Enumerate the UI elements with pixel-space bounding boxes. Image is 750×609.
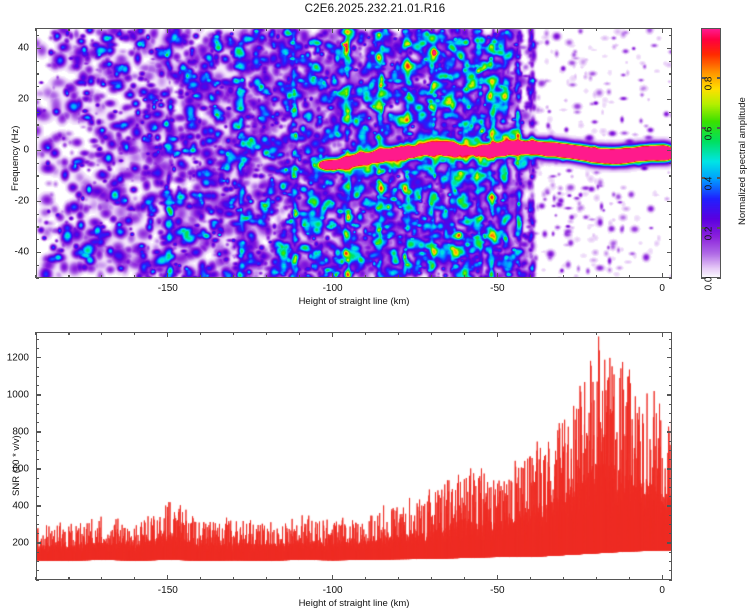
snr-x-minor-tick-top — [365, 332, 366, 335]
spectrogram-y-minor-tick — [36, 214, 39, 215]
snr-x-minor-tick-top — [233, 332, 234, 335]
snr-y-tick-right — [667, 468, 672, 469]
spectrogram-y-minor-tick — [36, 35, 39, 36]
spectrogram-x-tick-label: -150 — [158, 283, 178, 294]
spectrogram-x-minor-tick — [200, 275, 201, 278]
spectrogram-y-minor-tick — [36, 112, 39, 113]
spectrogram-y-minor-tick — [36, 137, 39, 138]
spectrogram-x-minor-tick-top — [134, 28, 135, 31]
snr-y-minor-tick — [36, 515, 39, 516]
snr-y-minor-tick — [36, 533, 39, 534]
snr-y-minor-tick-right — [669, 579, 672, 580]
snr-x-tick — [497, 575, 498, 580]
snr-x-minor-tick — [464, 577, 465, 580]
snr-x-tick-label: -50 — [490, 585, 504, 596]
spectrogram-x-minor-tick-top — [530, 28, 531, 31]
spectrogram-y-tick-right — [667, 48, 672, 49]
snr-x-tick-top — [662, 332, 663, 337]
snr-y-tick-right — [667, 505, 672, 506]
spectrogram-x-tick-top — [662, 28, 663, 33]
snr-plot-area — [37, 333, 671, 579]
snr-x-minor-tick-top — [596, 332, 597, 335]
spectrogram-y-tick-label: 20 — [0, 94, 29, 105]
spectrogram-x-tick-top — [167, 28, 168, 33]
spectrogram-x-tick-top — [332, 28, 333, 33]
snr-y-minor-tick-right — [669, 376, 672, 377]
spectrogram-x-minor-tick — [629, 275, 630, 278]
spectrogram-x-minor-tick — [398, 275, 399, 278]
spectrogram-x-tick-top — [497, 28, 498, 33]
snr-y-minor-tick — [36, 376, 39, 377]
spectrogram-y-minor-tick — [36, 277, 39, 278]
spectrogram-y-minor-tick-right — [669, 73, 672, 74]
colorbar-tick-label: 0.0 — [703, 277, 714, 291]
spectrogram-x-minor-tick — [101, 275, 102, 278]
snr-x-minor-tick — [68, 577, 69, 580]
spectrogram-y-tick-right — [667, 99, 672, 100]
snr-y-minor-tick — [36, 478, 39, 479]
snr-y-tick — [36, 357, 41, 358]
figure-title: C2E6.2025.232.21.01.R16 — [0, 3, 750, 15]
snr-y-minor-tick-right — [669, 441, 672, 442]
snr-x-tick — [332, 575, 333, 580]
colorbar — [701, 28, 721, 278]
snr-y-minor-tick-right — [669, 339, 672, 340]
spectrogram-x-minor-tick-top — [101, 28, 102, 31]
snr-x-minor-tick-top — [134, 332, 135, 335]
spectrogram-y-tick-label: -20 — [0, 196, 29, 207]
spectrogram-x-minor-tick — [464, 275, 465, 278]
snr-x-minor-tick — [563, 577, 564, 580]
spectrogram-x-minor-tick — [299, 275, 300, 278]
spectrogram-y-tick — [36, 201, 41, 202]
snr-y-minor-tick-right — [669, 422, 672, 423]
spectrogram-y-minor-tick — [36, 124, 39, 125]
spectrogram-x-minor-tick-top — [365, 28, 366, 31]
snr-y-minor-tick — [36, 579, 39, 580]
snr-x-tick — [662, 575, 663, 580]
spectrogram-x-minor-tick — [68, 275, 69, 278]
spectrogram-x-minor-tick-top — [596, 28, 597, 31]
figure-root: C2E6.2025.232.21.01.R16 -150-100-500-40-… — [0, 0, 750, 600]
snr-y-minor-tick-right — [669, 487, 672, 488]
snr-x-minor-tick-top — [629, 332, 630, 335]
spectrogram-x-tick-label: -100 — [323, 283, 343, 294]
spectrogram-y-minor-tick-right — [669, 124, 672, 125]
spectrogram-y-minor-tick-right — [669, 214, 672, 215]
spectrogram-y-minor-tick — [36, 86, 39, 87]
snr-y-minor-tick-right — [669, 524, 672, 525]
snr-panel — [36, 332, 672, 580]
snr-y-minor-tick-right — [669, 385, 672, 386]
spectrogram-x-minor-tick-top — [68, 28, 69, 31]
spectrogram-y-tick — [36, 48, 41, 49]
colorbar-tick-right — [717, 177, 721, 178]
spectrogram-y-tick-right — [667, 252, 672, 253]
spectrogram-x-tick-label: -50 — [490, 283, 504, 294]
spectrogram-x-minor-tick-top — [299, 28, 300, 31]
spectrogram-x-minor-tick — [233, 275, 234, 278]
snr-y-minor-tick-right — [669, 570, 672, 571]
snr-x-minor-tick — [530, 577, 531, 580]
colorbar-tick-label: 0.6 — [703, 127, 714, 141]
snr-trace — [37, 333, 671, 579]
spectrogram-x-minor-tick-top — [629, 28, 630, 31]
spectrogram-x-tick — [662, 273, 663, 278]
spectrogram-x-minor-tick-top — [563, 28, 564, 31]
colorbar-tick-label: 0.4 — [703, 177, 714, 191]
snr-x-minor-tick-top — [530, 332, 531, 335]
spectrogram-y-minor-tick — [36, 239, 39, 240]
snr-y-tick-label: 400 — [0, 500, 29, 511]
spectrogram-y-axis-title: Frequency (Hz) — [10, 126, 21, 191]
snr-x-tick-label: 0 — [659, 585, 665, 596]
colorbar-tick-label: 0.8 — [703, 77, 714, 91]
snr-y-tick-label: 200 — [0, 537, 29, 548]
spectrogram-y-minor-tick — [36, 61, 39, 62]
snr-x-minor-tick — [365, 577, 366, 580]
snr-x-minor-tick — [200, 577, 201, 580]
spectrogram-y-minor-tick-right — [669, 35, 672, 36]
snr-x-tick-top — [167, 332, 168, 337]
snr-x-minor-tick — [134, 577, 135, 580]
snr-y-tick-right — [667, 542, 672, 543]
spectrogram-panel — [36, 28, 672, 278]
spectrogram-y-tick — [36, 99, 41, 100]
snr-y-axis-title: SNR (10 * v/v) — [11, 435, 22, 496]
spectrogram-x-minor-tick-top — [266, 28, 267, 31]
snr-y-minor-tick — [36, 339, 39, 340]
spectrogram-y-minor-tick — [36, 265, 39, 266]
colorbar-tick-right — [717, 77, 721, 78]
snr-y-tick-right — [667, 394, 672, 395]
snr-y-minor-tick — [36, 385, 39, 386]
spectrogram-y-minor-tick — [36, 163, 39, 164]
colorbar-title: Normalized spectral amplitude — [737, 97, 748, 225]
spectrogram-x-minor-tick-top — [200, 28, 201, 31]
snr-y-tick-label: 1200 — [0, 352, 29, 363]
spectrogram-x-minor-tick — [431, 275, 432, 278]
spectrogram-x-tick-label: 0 — [659, 283, 665, 294]
spectrogram-x-minor-tick — [266, 275, 267, 278]
spectrogram-y-minor-tick — [36, 188, 39, 189]
spectrogram-y-minor-tick-right — [669, 277, 672, 278]
snr-y-minor-tick — [36, 552, 39, 553]
spectrogram-y-minor-tick-right — [669, 226, 672, 227]
spectrogram-x-minor-tick — [563, 275, 564, 278]
snr-y-minor-tick — [36, 422, 39, 423]
snr-x-minor-tick-top — [398, 332, 399, 335]
snr-x-minor-tick — [299, 577, 300, 580]
snr-y-tick — [36, 505, 41, 506]
snr-y-minor-tick — [36, 413, 39, 414]
snr-y-minor-tick — [36, 561, 39, 562]
snr-x-tick-label: -100 — [323, 585, 343, 596]
spectrogram-x-tick — [332, 273, 333, 278]
snr-x-minor-tick-top — [563, 332, 564, 335]
snr-y-minor-tick — [36, 459, 39, 460]
snr-y-minor-tick — [36, 450, 39, 451]
spectrogram-x-minor-tick — [134, 275, 135, 278]
snr-y-minor-tick — [36, 348, 39, 349]
snr-x-tick-label: -150 — [158, 585, 178, 596]
spectrogram-x-minor-tick-top — [398, 28, 399, 31]
snr-y-tick-label: 1000 — [0, 389, 29, 400]
colorbar-tick-right — [717, 227, 721, 228]
snr-y-minor-tick-right — [669, 552, 672, 553]
snr-y-minor-tick — [36, 404, 39, 405]
spectrogram-y-tick-right — [667, 150, 672, 151]
spectrogram-x-minor-tick-top — [233, 28, 234, 31]
snr-y-tick — [36, 468, 41, 469]
snr-y-minor-tick-right — [669, 533, 672, 534]
snr-x-minor-tick — [596, 577, 597, 580]
snr-x-tick-top — [497, 332, 498, 337]
snr-y-minor-tick-right — [669, 478, 672, 479]
snr-y-minor-tick-right — [669, 413, 672, 414]
snr-y-tick — [36, 431, 41, 432]
spectrogram-y-minor-tick-right — [669, 265, 672, 266]
spectrogram-image — [37, 29, 671, 277]
spectrogram-y-minor-tick — [36, 73, 39, 74]
snr-x-minor-tick-top — [431, 332, 432, 335]
spectrogram-x-minor-tick — [530, 275, 531, 278]
snr-x-minor-tick — [233, 577, 234, 580]
spectrogram-y-minor-tick-right — [669, 163, 672, 164]
snr-y-tick-right — [667, 357, 672, 358]
snr-x-minor-tick-top — [101, 332, 102, 335]
spectrogram-y-minor-tick-right — [669, 175, 672, 176]
spectrogram-x-minor-tick — [596, 275, 597, 278]
spectrogram-y-minor-tick-right — [669, 112, 672, 113]
snr-x-tick — [167, 575, 168, 580]
snr-x-minor-tick-top — [299, 332, 300, 335]
snr-y-tick-right — [667, 431, 672, 432]
spectrogram-y-minor-tick-right — [669, 61, 672, 62]
snr-x-minor-tick — [101, 577, 102, 580]
snr-x-tick-top — [332, 332, 333, 337]
snr-y-minor-tick-right — [669, 515, 672, 516]
spectrogram-y-minor-tick-right — [669, 137, 672, 138]
spectrogram-y-tick-label: 40 — [0, 43, 29, 54]
spectrogram-y-tick — [36, 252, 41, 253]
snr-y-minor-tick — [36, 487, 39, 488]
snr-y-minor-tick-right — [669, 561, 672, 562]
snr-y-minor-tick-right — [669, 367, 672, 368]
spectrogram-y-minor-tick-right — [669, 86, 672, 87]
snr-y-minor-tick — [36, 570, 39, 571]
snr-x-minor-tick-top — [464, 332, 465, 335]
spectrogram-y-minor-tick — [36, 175, 39, 176]
snr-y-minor-tick-right — [669, 348, 672, 349]
snr-y-minor-tick — [36, 524, 39, 525]
snr-x-minor-tick — [629, 577, 630, 580]
colorbar-tick-right — [717, 277, 721, 278]
snr-x-minor-tick — [266, 577, 267, 580]
snr-y-minor-tick — [36, 441, 39, 442]
colorbar-tick-right — [717, 127, 721, 128]
snr-y-minor-tick-right — [669, 496, 672, 497]
spectrogram-y-tick — [36, 150, 41, 151]
spectrogram-x-minor-tick-top — [431, 28, 432, 31]
spectrogram-y-minor-tick-right — [669, 188, 672, 189]
snr-x-minor-tick — [431, 577, 432, 580]
snr-y-minor-tick-right — [669, 450, 672, 451]
spectrogram-x-minor-tick — [365, 275, 366, 278]
spectrogram-y-tick-label: -40 — [0, 247, 29, 258]
snr-y-tick — [36, 394, 41, 395]
snr-y-minor-tick-right — [669, 459, 672, 460]
snr-x-minor-tick-top — [266, 332, 267, 335]
spectrogram-x-tick — [497, 273, 498, 278]
spectrogram-x-minor-tick-top — [464, 28, 465, 31]
spectrogram-x-axis-title: Height of straight line (km) — [299, 296, 410, 307]
snr-x-minor-tick-top — [68, 332, 69, 335]
snr-y-minor-tick — [36, 496, 39, 497]
spectrogram-plot-area — [37, 29, 671, 277]
snr-x-minor-tick-top — [35, 332, 36, 335]
spectrogram-x-minor-tick-top — [35, 28, 36, 31]
snr-y-tick — [36, 542, 41, 543]
snr-x-minor-tick — [398, 577, 399, 580]
spectrogram-y-tick-right — [667, 201, 672, 202]
spectrogram-x-tick — [167, 273, 168, 278]
colorbar-tick-label: 0.2 — [703, 227, 714, 241]
spectrogram-y-minor-tick — [36, 226, 39, 227]
snr-y-minor-tick — [36, 367, 39, 368]
spectrogram-y-minor-tick-right — [669, 239, 672, 240]
snr-y-minor-tick-right — [669, 404, 672, 405]
snr-x-minor-tick-top — [200, 332, 201, 335]
